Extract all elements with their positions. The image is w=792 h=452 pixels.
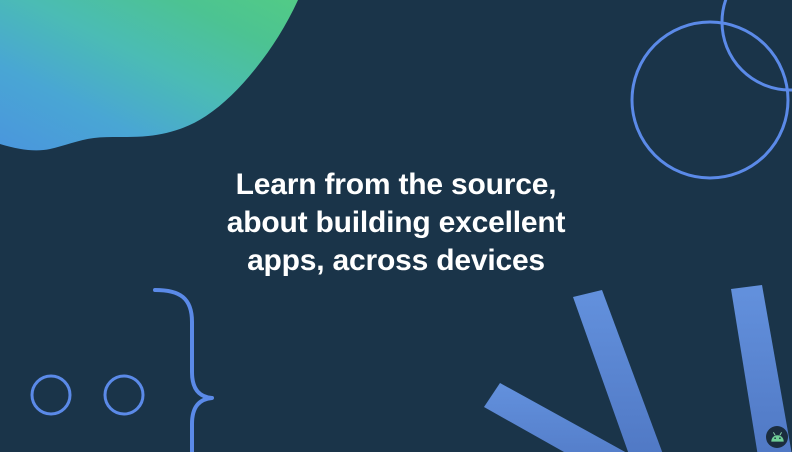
presentation-slide: Learn from the source, about building ex… <box>0 0 792 452</box>
page-title: Learn from the source, about building ex… <box>0 166 792 280</box>
android-robot-icon <box>770 432 785 443</box>
headline-line-3: apps, across devices <box>0 242 792 280</box>
headline-line-2: about building excellent <box>0 204 792 242</box>
headline-line-1: Learn from the source, <box>0 166 792 204</box>
android-logo-badge <box>766 426 788 448</box>
